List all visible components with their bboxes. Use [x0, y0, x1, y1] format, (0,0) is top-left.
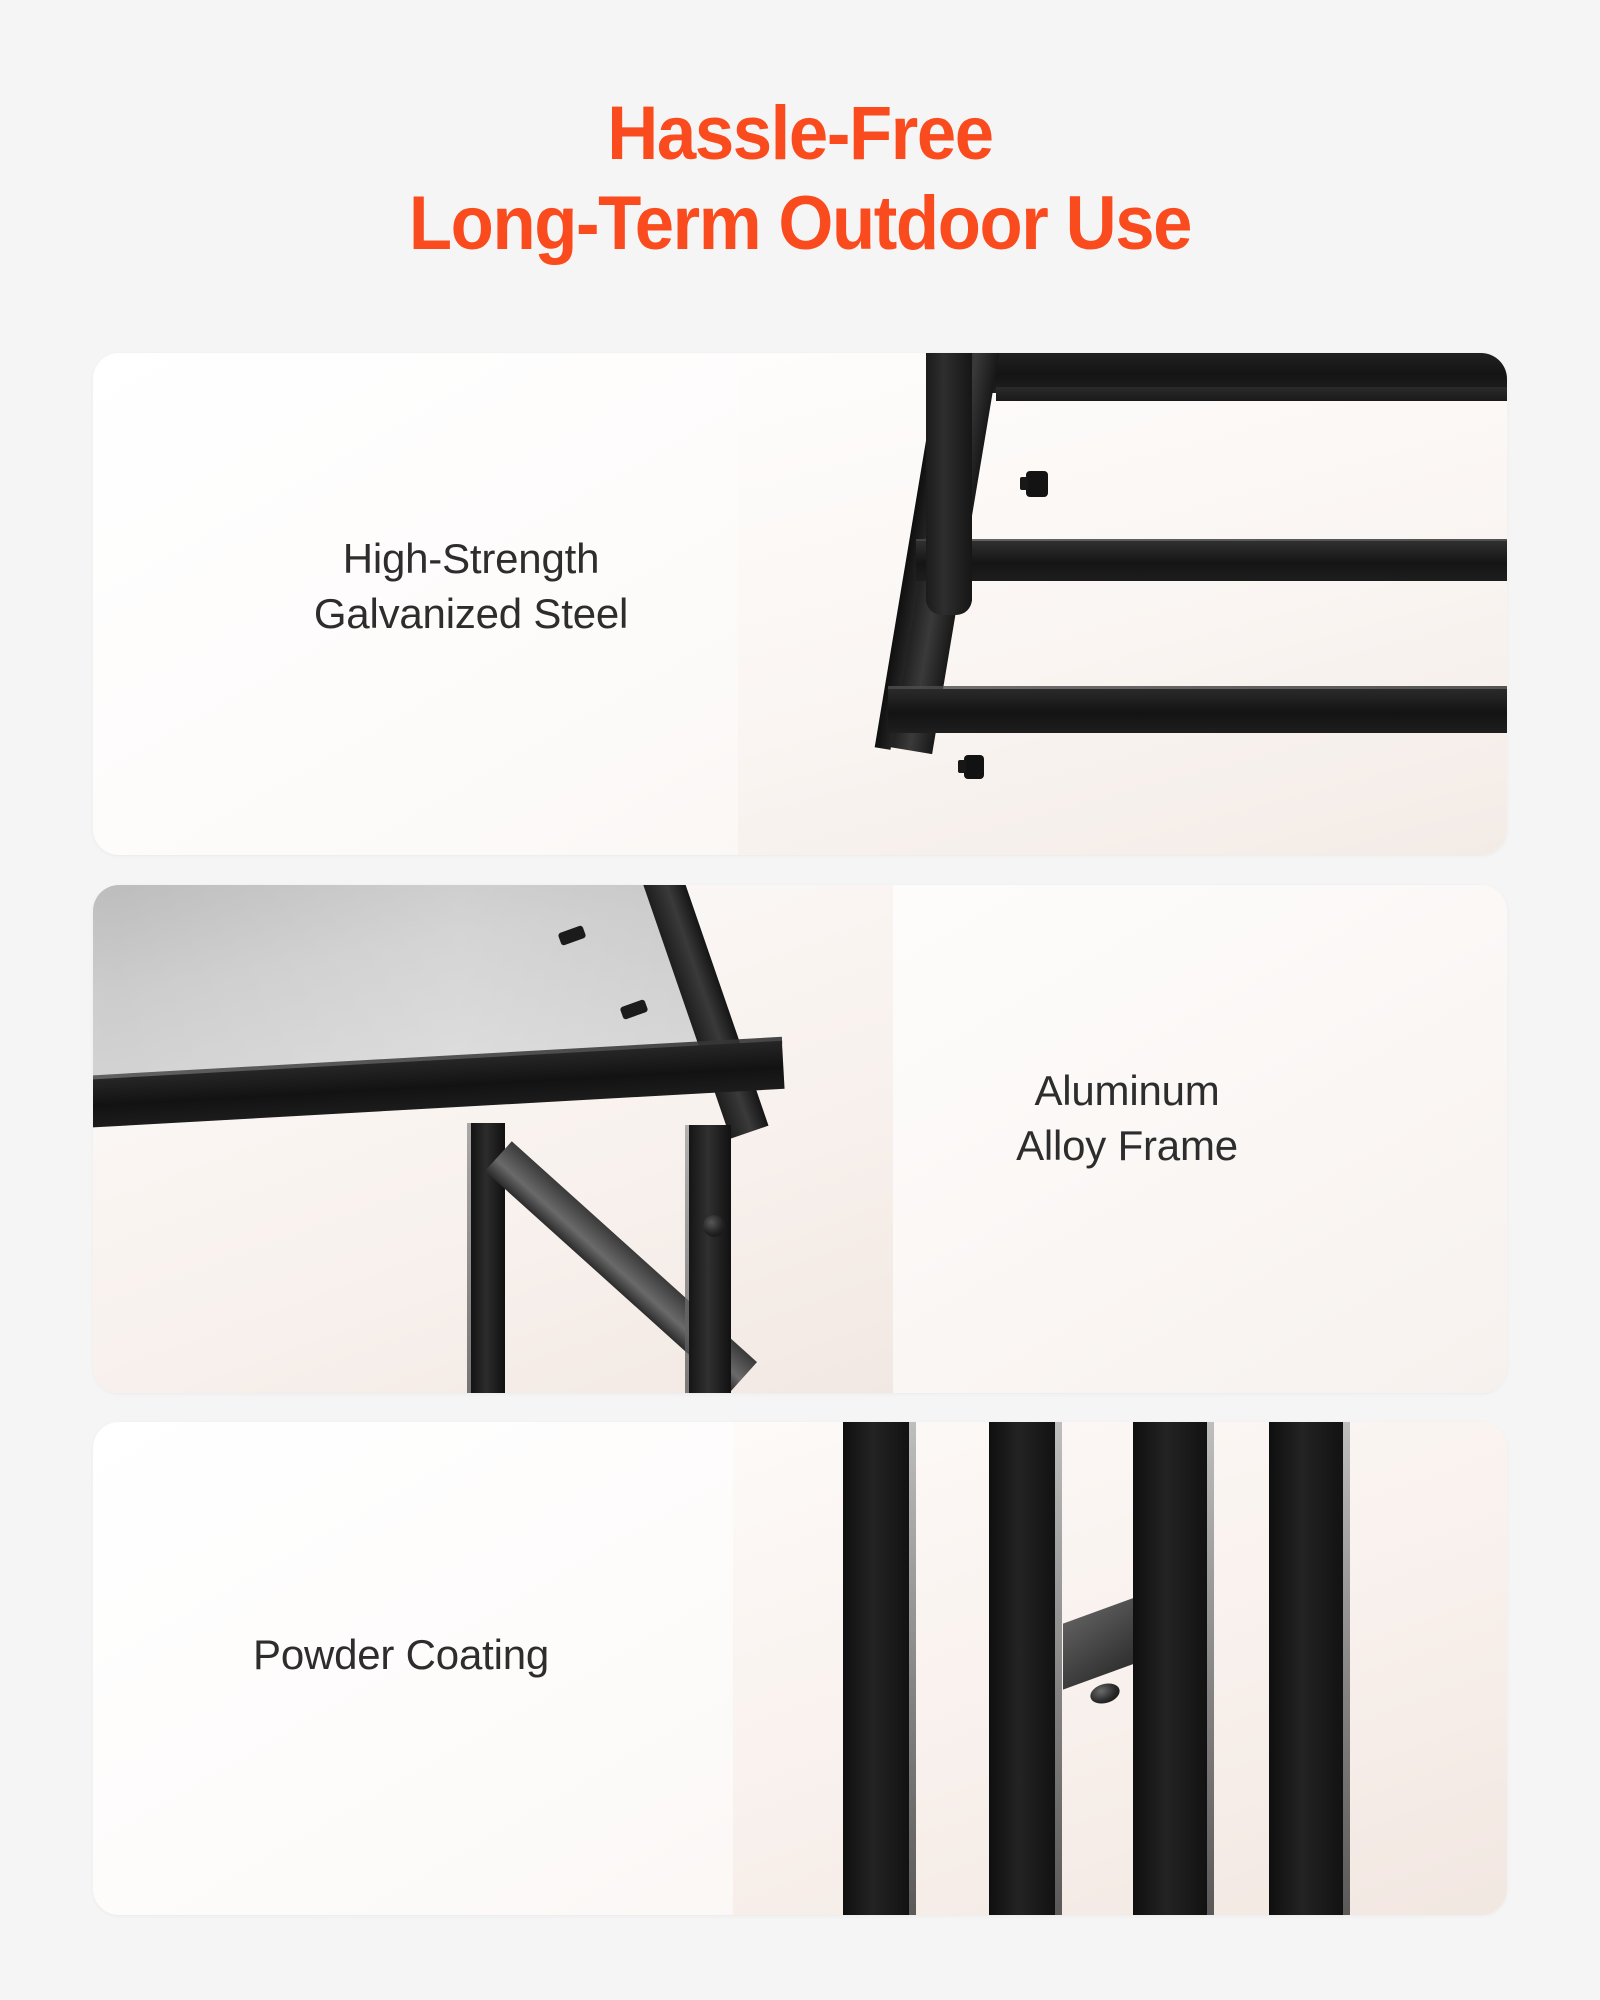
alloy-right-leg — [689, 1125, 731, 1393]
steel-top-rail-shadow — [996, 387, 1507, 401]
steel-leg-foot — [926, 589, 972, 615]
feature-card-aluminum-alloy: Aluminum Alloy Frame — [93, 885, 1507, 1393]
feature-card-powder-coating: Powder Coating — [93, 1422, 1507, 1915]
alloy-screw — [703, 1215, 725, 1237]
coated-bar-4-highlight — [1343, 1422, 1350, 1915]
coated-bar-3-highlight — [1207, 1422, 1214, 1915]
coated-bar-1 — [843, 1422, 909, 1915]
coated-bar-3 — [1133, 1422, 1207, 1915]
infographic-page: Hassle-Free Long-Term Outdoor Use High-S… — [0, 0, 1600, 2000]
card-label-powder-coating: Powder Coating — [253, 1627, 813, 1682]
card-label-aluminum-alloy: Aluminum Alloy Frame — [867, 1063, 1387, 1174]
steel-bolt-lower — [964, 755, 984, 779]
steel-vertical-leg — [926, 353, 972, 601]
coated-screw — [1088, 1680, 1122, 1707]
alloy-frame-photo — [93, 885, 893, 1393]
powder-coating-photo — [733, 1422, 1507, 1915]
card-label-galvanized-steel: High-Strength Galvanized Steel — [221, 531, 721, 642]
feature-card-galvanized-steel: High-Strength Galvanized Steel — [93, 353, 1507, 855]
headline-line-1: Hassle-Free — [607, 91, 992, 176]
coated-bar-2-highlight — [1055, 1422, 1062, 1915]
headline-line-2: Long-Term Outdoor Use — [56, 186, 1544, 262]
page-title: Hassle-Free Long-Term Outdoor Use — [56, 96, 1544, 262]
steel-frame-photo — [738, 353, 1507, 855]
steel-mid-rail — [916, 541, 1507, 581]
coated-bar-4 — [1269, 1422, 1343, 1915]
coated-bar-1-highlight — [909, 1422, 916, 1915]
coated-bar-2 — [989, 1422, 1055, 1915]
steel-bolt-upper — [1026, 471, 1048, 497]
steel-bottom-rail — [888, 689, 1507, 733]
